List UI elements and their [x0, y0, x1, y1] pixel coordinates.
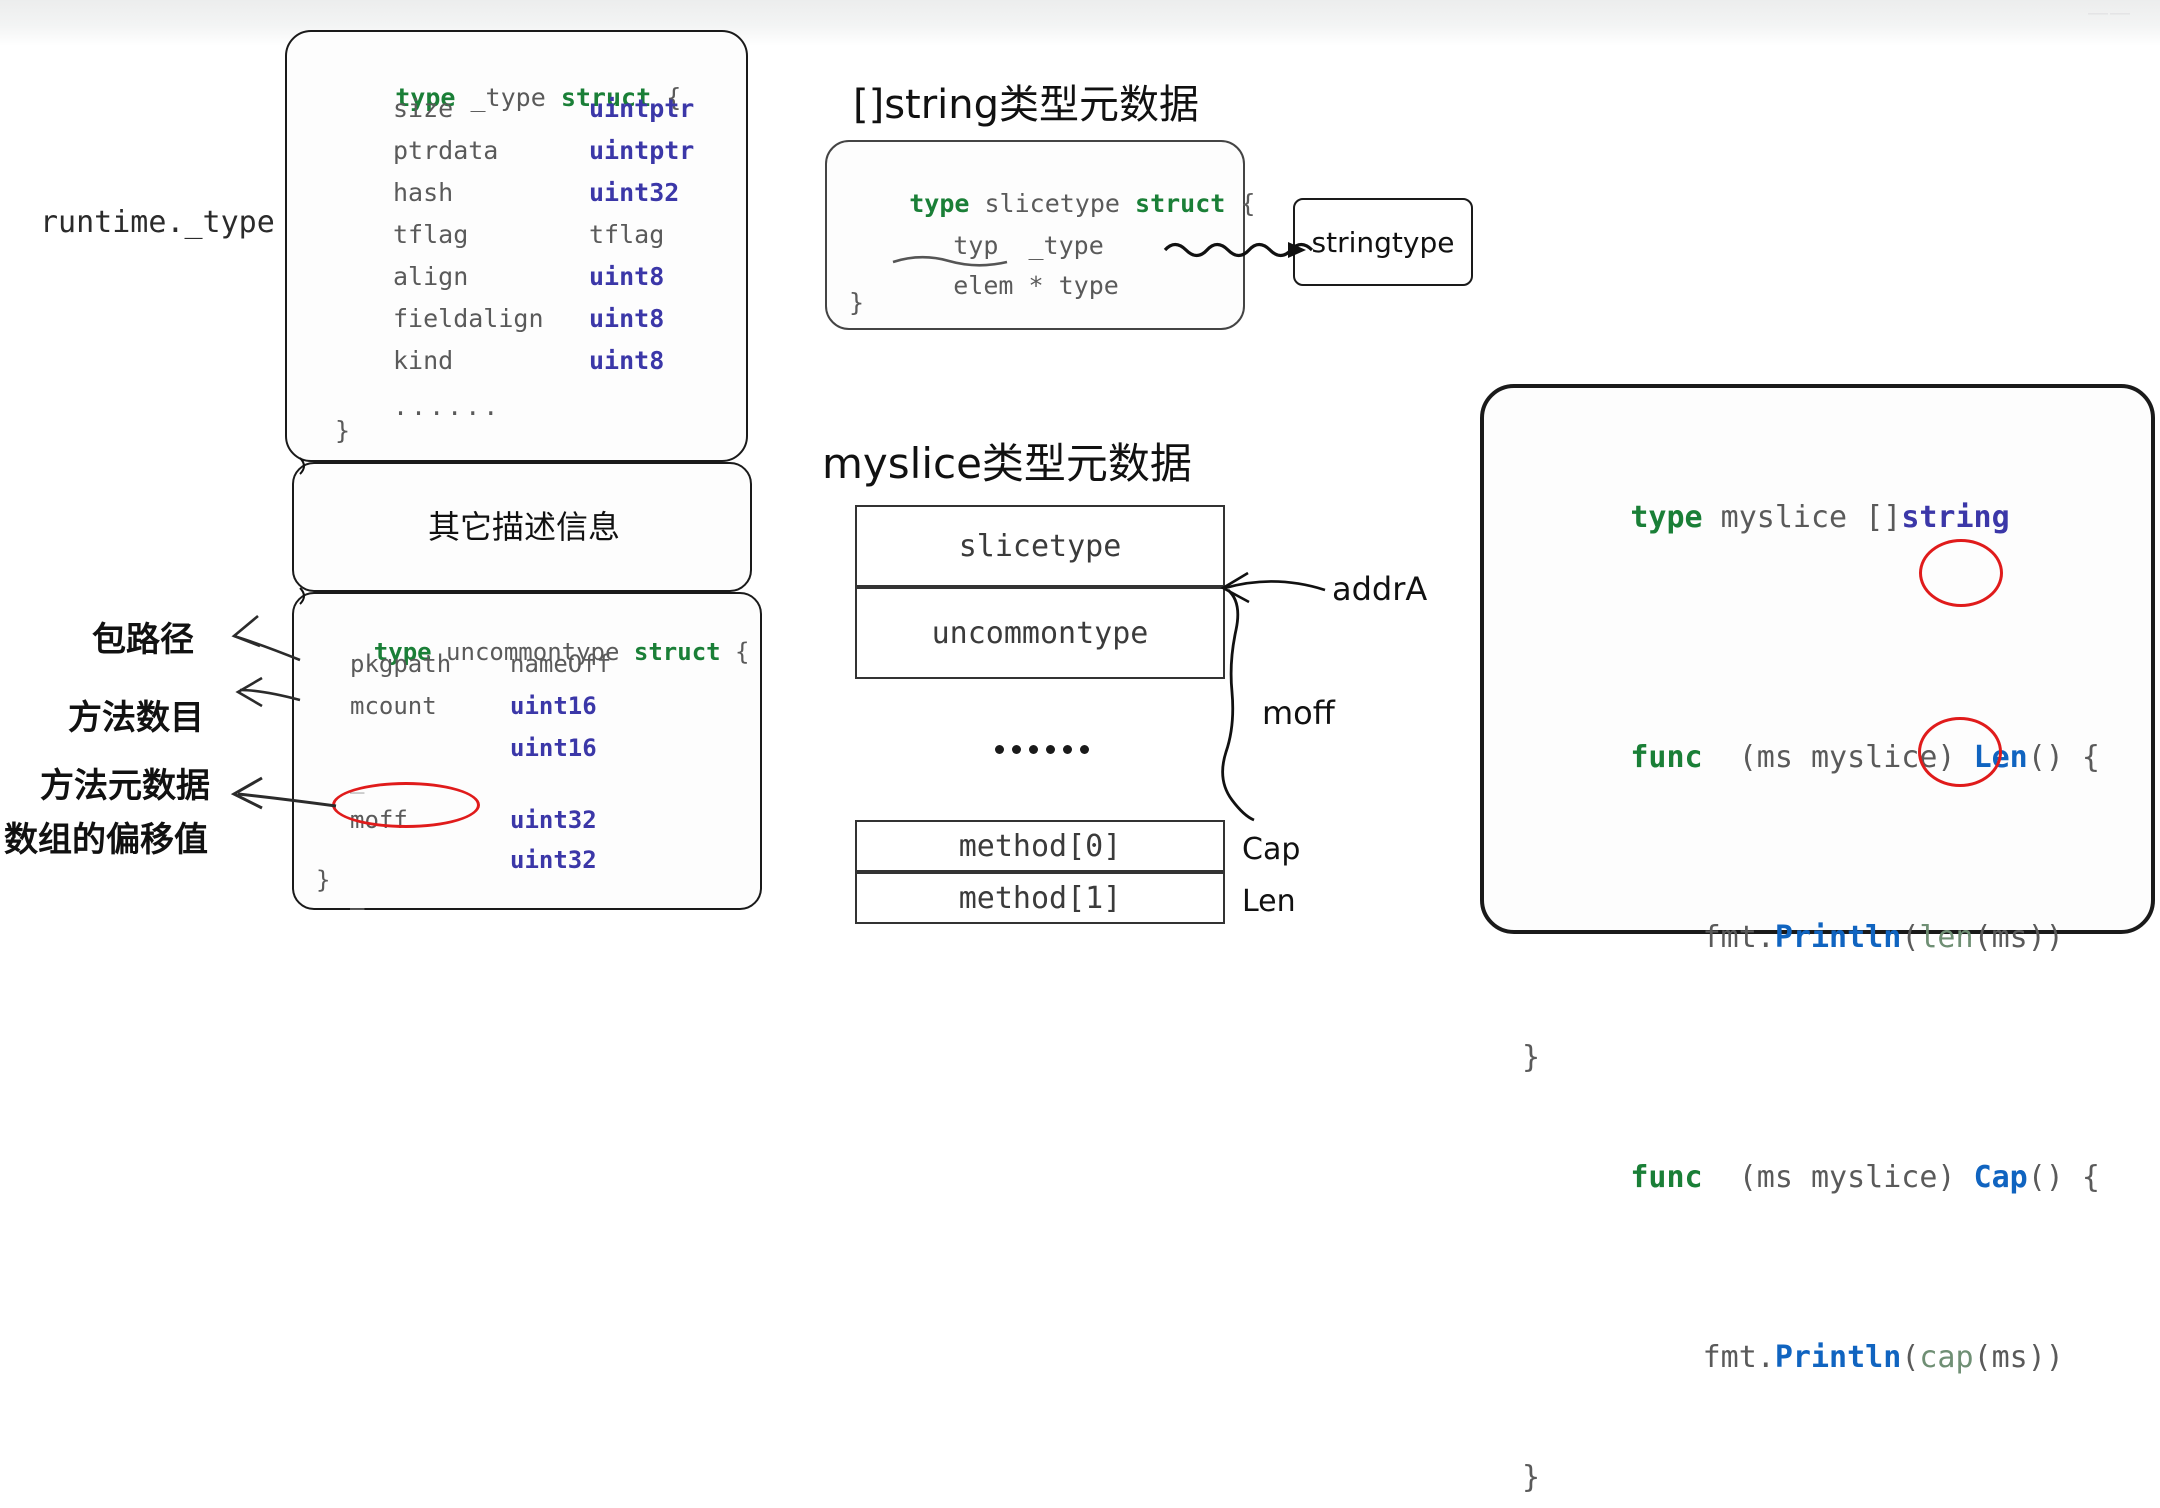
- field-type: uint32: [510, 806, 597, 834]
- field-name: mcount: [350, 692, 437, 720]
- other-description-label: 其它描述信息: [294, 502, 754, 548]
- addr-a-leader: [1225, 581, 1325, 590]
- myslice-metadata-title: myslice类型元数据: [822, 430, 1192, 491]
- code-text: (ms)): [1974, 920, 2064, 955]
- annotation-method-metadata: 方法元数据: [40, 758, 210, 807]
- moff-arrowhead: [234, 778, 262, 808]
- field-type: uint32: [589, 178, 679, 207]
- field-type: uint8: [589, 346, 664, 375]
- addr-a-arrowhead: [1223, 573, 1249, 602]
- method-name-len: Len: [1974, 740, 2028, 775]
- addr-a-label: addrA: [1332, 570, 1427, 608]
- myslice-code-box: type myslice []string func (ms myslice) …: [1480, 384, 2155, 934]
- code-line: fmt.Println(len(ms)): [1522, 848, 2100, 1028]
- field-name-moff: moff: [350, 806, 408, 834]
- field-type: uint16: [510, 692, 597, 720]
- code-line: type myslice []string: [1522, 428, 2100, 608]
- field-name: ptrdata: [393, 136, 498, 165]
- code-text: () {: [2028, 1160, 2100, 1195]
- code-line: func (ms myslice) Cap() {: [1522, 1088, 2100, 1268]
- method0-tag-cap: Cap: [1242, 832, 1300, 867]
- func-println: Println: [1775, 1340, 1901, 1375]
- code-text: (: [1901, 920, 1919, 955]
- watermark-text: ——: [2088, 2, 2132, 25]
- field-type: nameOff: [510, 650, 611, 678]
- type-struct-close-brace: }: [335, 416, 350, 445]
- field-type: uint32: [510, 846, 597, 874]
- builtin-len: len: [1919, 920, 1973, 955]
- code-line: }: [1522, 1028, 2100, 1088]
- myslice-code-lines: type myslice []string func (ms myslice) …: [1522, 428, 2100, 1508]
- code-line: fmt.Println(cap(ms)): [1522, 1268, 2100, 1448]
- open-brace: {: [735, 638, 749, 666]
- field-name: tflag: [393, 220, 468, 249]
- field-name: size: [393, 94, 453, 123]
- field-ellipsis: ......: [393, 392, 501, 421]
- field-type: * type: [1029, 271, 1119, 300]
- myslice-cell-method0: method[0]: [855, 820, 1225, 872]
- keyword-struct: struct: [1135, 189, 1225, 218]
- annotation-array-offset: 数组的偏移值: [4, 812, 208, 861]
- field-type: uintptr: [589, 94, 694, 123]
- code-text: fmt.: [1630, 1340, 1775, 1375]
- string-metadata-title: []string类型元数据: [853, 72, 1199, 130]
- field-type: tflag: [589, 220, 664, 249]
- struct-name: _type: [471, 83, 546, 112]
- method-name-cap: Cap: [1974, 1160, 2028, 1195]
- code-line: }: [1522, 1448, 2100, 1508]
- field-name: hash: [393, 178, 453, 207]
- myslice-cell-uncommontype: uncommontype: [855, 587, 1225, 679]
- code-text: fmt.: [1630, 920, 1775, 955]
- field-type: uintptr: [589, 136, 694, 165]
- builtin-cap: cap: [1919, 1340, 1973, 1375]
- code-text: (: [1901, 1340, 1919, 1375]
- pkgpath-leader: [234, 636, 300, 660]
- moff-brace: [1223, 590, 1254, 820]
- code-text: myslice: [1703, 500, 1866, 535]
- field-name: elem: [953, 271, 1013, 300]
- slicetype-field-elem: elem * type: [893, 242, 1119, 329]
- annotation-mcount: 方法数目: [68, 690, 204, 739]
- code-line-blank: [1522, 608, 2100, 668]
- myslice-cell-slicetype: slicetype: [855, 505, 1225, 587]
- uncommontype-close-brace: }: [316, 866, 330, 894]
- slicetype-close-brace: }: [849, 288, 864, 317]
- code-text: (ms myslice): [1703, 740, 1974, 775]
- code-text: () {: [2028, 740, 2100, 775]
- slicetype-struct-box: type slicetype struct { typ _type elem *…: [825, 140, 1245, 330]
- keyword-struct: struct: [634, 638, 721, 666]
- field-type: uint8: [589, 262, 664, 291]
- field-name: kind: [393, 346, 453, 375]
- uncommontype-struct-box: type uncommontype struct { pkgpath nameO…: [292, 592, 762, 910]
- field-name: align: [393, 262, 468, 291]
- mcount-leader: [240, 690, 300, 700]
- method1-tag-len: Len: [1242, 884, 1296, 919]
- field-type: uint8: [589, 304, 664, 333]
- code-line: func (ms myslice) Len() {: [1522, 668, 2100, 848]
- open-brace: {: [1240, 189, 1255, 218]
- pkgpath-arrowhead: [234, 616, 260, 646]
- func-println: Println: [1775, 920, 1901, 955]
- moff-label: moff: [1262, 694, 1335, 732]
- field-placeholder: _: [350, 882, 364, 910]
- type-struct-box: type _type struct { size uintptr ptrdata…: [285, 30, 748, 462]
- stringtype-box: stringtype: [1293, 198, 1473, 286]
- field-type: uint16: [510, 734, 597, 762]
- keyword-func: func: [1630, 740, 1702, 775]
- field-name: fieldalign: [393, 304, 544, 333]
- myslice-cell-method1: method[1]: [855, 872, 1225, 924]
- code-text: (ms myslice): [1703, 1160, 1974, 1195]
- myslice-ellipsis-dots: [995, 745, 1089, 754]
- annotation-pkgpath: 包路径: [92, 612, 194, 661]
- keyword-type: type: [1630, 500, 1702, 535]
- code-text: (ms)): [1974, 1340, 2064, 1375]
- code-text: []: [1865, 500, 1901, 535]
- runtime-type-label: runtime._type: [40, 205, 275, 240]
- field-placeholder: _: [350, 766, 364, 794]
- other-description-box: 其它描述信息: [292, 462, 752, 592]
- keyword-func: func: [1630, 1160, 1702, 1195]
- field-name: pkgpath: [350, 650, 451, 678]
- type-string: string: [1901, 500, 2009, 535]
- mcount-arrowhead: [238, 678, 262, 706]
